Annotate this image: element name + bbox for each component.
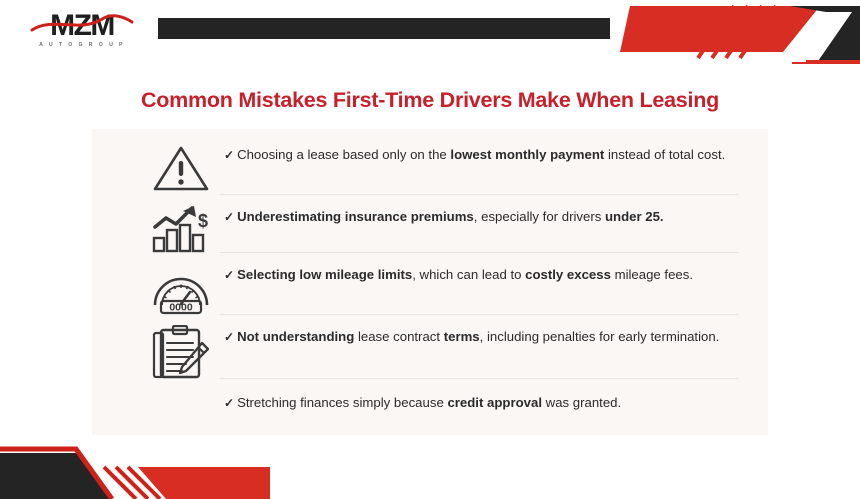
checkmark-icon: ✓ (224, 266, 234, 285)
list-item: ✓Choosing a lease based only on the lowe… (92, 129, 768, 195)
content-panel: ✓Choosing a lease based only on the lowe… (92, 129, 768, 435)
list-item: 0000 ✓Selecting low mileage limits, whic… (92, 253, 768, 315)
top-right-decoration (620, 0, 860, 64)
list-item: ✓Stretching finances simply because cred… (92, 379, 768, 435)
clipboard-pencil-icon (142, 323, 220, 379)
growth-chart-dollar-icon: $ (142, 203, 220, 253)
list-item-text: ✓Choosing a lease based only on the lowe… (220, 141, 746, 165)
body-text: , especially for drivers (474, 209, 605, 224)
svg-text:$: $ (198, 211, 208, 231)
checkmark-icon: ✓ (224, 328, 234, 347)
emphasis-text: costly excess (525, 267, 611, 282)
body-text: , which can lead to (412, 267, 525, 282)
header-bar (158, 18, 610, 39)
checkmark-icon: ✓ (224, 146, 234, 165)
list-item: ✓Not understanding lease contract terms,… (92, 315, 768, 379)
page-title: Common Mistakes First-Time Drivers Make … (0, 88, 860, 113)
odometer-icon: 0000 (142, 261, 220, 315)
emphasis-text: terms (444, 329, 480, 344)
list-item: $ ✓Underestimating insurance premiums, e… (92, 195, 768, 253)
body-text: was granted. (542, 395, 621, 410)
emphasis-text: under 25. (605, 209, 664, 224)
odometer-value: 0000 (169, 302, 193, 314)
emphasis-text: lowest monthly payment (450, 147, 604, 162)
checkmark-icon: ✓ (224, 208, 234, 227)
list-item-text: ✓Stretching finances simply because cred… (220, 389, 746, 413)
checkmark-icon: ✓ (224, 394, 234, 413)
body-text: lease contract (354, 329, 443, 344)
slide-canvas: MZM A U T O G R O U P Common Mist (0, 0, 860, 499)
mistakes-list: ✓Choosing a lease based only on the lowe… (92, 129, 768, 435)
emphasis-text: Not understanding (237, 329, 354, 344)
logo-mark: MZM (28, 10, 136, 40)
body-text: Stretching finances simply because (237, 395, 447, 410)
emphasis-text: Selecting low mileage limits (237, 267, 412, 282)
brand-logo: MZM A U T O G R O U P (28, 10, 136, 54)
mzm-wordmark-icon: MZM (28, 10, 136, 40)
no-icon-placeholder (142, 389, 220, 391)
body-text: , including penalties for early terminat… (480, 329, 720, 344)
emphasis-text: Underestimating insurance premiums (237, 209, 474, 224)
bottom-left-decoration (0, 433, 300, 499)
body-text: instead of total cost. (604, 147, 725, 162)
list-item-text: ✓Underestimating insurance premiums, esp… (220, 203, 746, 227)
logo-tagline: A U T O G R O U P (28, 42, 136, 48)
list-item-text: ✓Not understanding lease contract terms,… (220, 323, 746, 347)
warning-triangle-icon (142, 141, 220, 193)
body-text: mileage fees. (611, 267, 693, 282)
list-item-text: ✓Selecting low mileage limits, which can… (220, 261, 746, 285)
emphasis-text: credit approval (447, 395, 542, 410)
body-text: Choosing a lease based only on the (237, 147, 450, 162)
